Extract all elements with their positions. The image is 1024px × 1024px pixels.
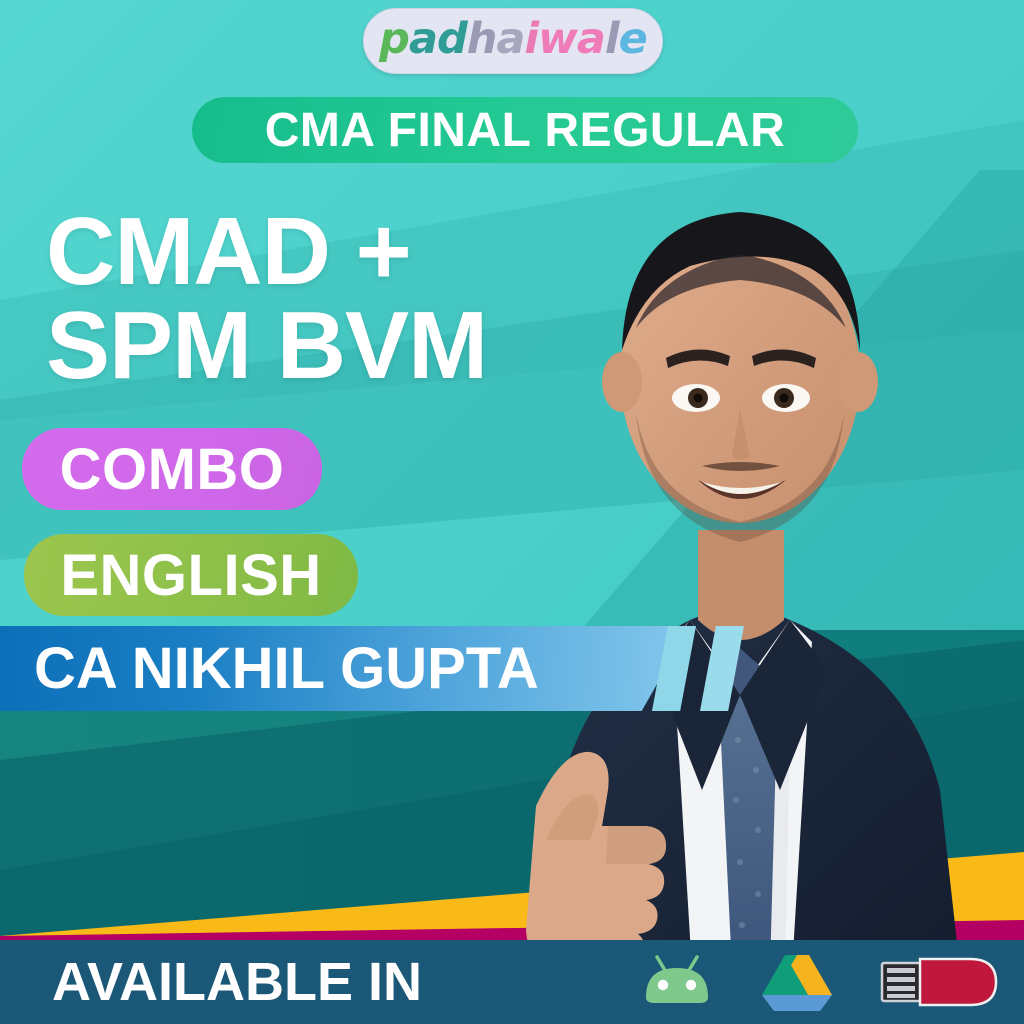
- brand-logo-letter: a: [577, 18, 605, 61]
- course-title: CMAD + SPM BVM: [46, 205, 606, 393]
- badge-english-label: ENGLISH: [60, 542, 321, 609]
- brand-logo-letter: a: [496, 18, 524, 61]
- brand-logo-text: padhaiwale: [379, 18, 647, 61]
- pendrive-icon[interactable]: [880, 953, 998, 1011]
- android-icon[interactable]: [640, 951, 714, 1013]
- course-promo-poster: padhaiwale CMA FINAL REGULAR CMAD + SPM …: [0, 0, 1024, 1024]
- brand-logo[interactable]: padhaiwale: [363, 8, 663, 74]
- course-title-line-2: SPM BVM: [46, 299, 606, 393]
- instructor-name: CA NIKHIL GUPTA: [0, 635, 539, 702]
- available-in-label: AVAILABLE IN: [0, 951, 422, 1013]
- availability-bar: AVAILABLE IN: [0, 940, 1024, 1024]
- instructor-name-bar: CA NIKHIL GUPTA: [0, 626, 690, 711]
- badge-combo: COMBO: [22, 428, 322, 510]
- course-title-line-1: CMAD +: [46, 205, 606, 299]
- brand-logo-letter: l: [605, 18, 619, 61]
- brand-logo-letter: w: [538, 18, 577, 61]
- google-drive-icon[interactable]: [762, 951, 832, 1013]
- badge-english: ENGLISH: [24, 534, 358, 616]
- brand-logo-letter: p: [379, 18, 409, 61]
- brand-logo-letter: e: [619, 18, 647, 61]
- course-track-label: CMA FINAL REGULAR: [265, 103, 785, 158]
- brand-logo-letter: i: [524, 18, 538, 61]
- badge-combo-label: COMBO: [60, 436, 285, 503]
- brand-logo-letter: d: [437, 18, 467, 61]
- platform-icons: [640, 940, 998, 1024]
- brand-logo-letter: h: [467, 18, 497, 61]
- course-track-pill: CMA FINAL REGULAR: [192, 97, 858, 163]
- brand-logo-letter: a: [409, 18, 437, 61]
